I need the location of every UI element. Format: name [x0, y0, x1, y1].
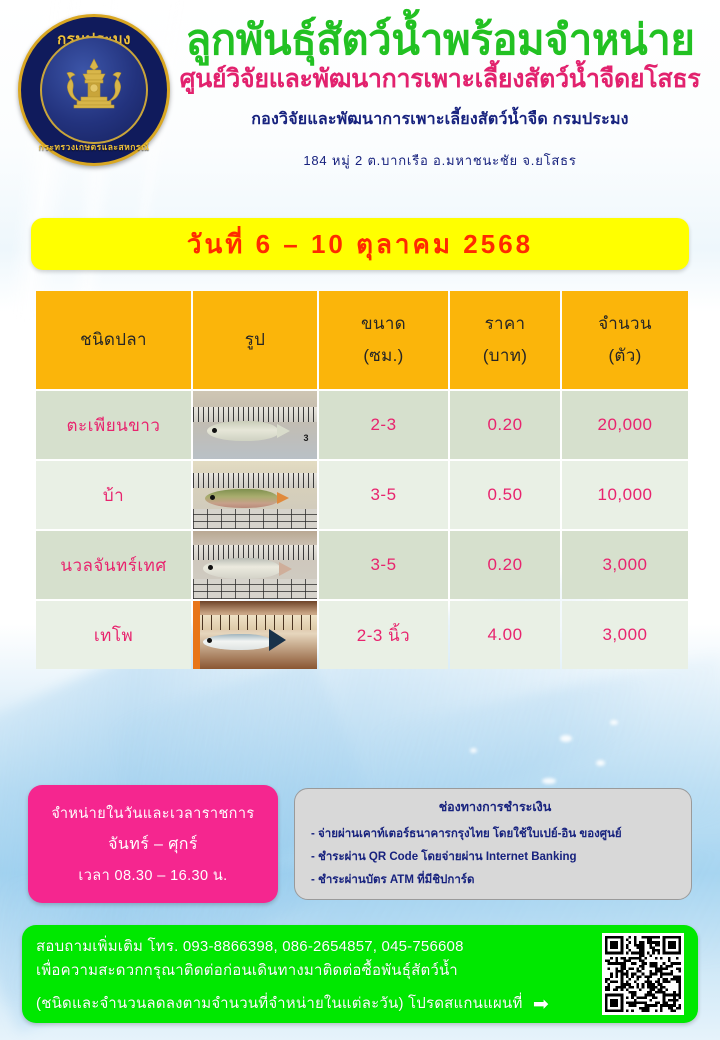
payment-box-title: ช่องทางการชำระเงิน	[311, 797, 679, 817]
cell-fish-quantity: 3,000	[562, 531, 688, 599]
title-block: ลูกพันธุ์สัตว์น้ำพร้อมจำหน่าย ศูนย์วิจัย…	[168, 18, 712, 171]
department-of-fisheries-seal-icon: กรมประมง กระ	[18, 14, 170, 166]
cell-fish-price: 4.00	[450, 601, 560, 669]
header-text-price: ราคา	[485, 314, 526, 333]
poster-title: ลูกพันธุ์สัตว์น้ำพร้อมจำหน่าย	[168, 18, 712, 62]
cell-fish-photo: 3	[193, 391, 317, 459]
poster-department-line: กองวิจัยและพัฒนาการเพาะเลี้ยงสัตว์น้ำจืด…	[168, 107, 712, 132]
cell-fish-size: 3-5	[319, 531, 448, 599]
cell-fish-name: บ้า	[36, 461, 191, 529]
fish-photo-nuan-chan-thet-icon	[193, 531, 317, 599]
cell-fish-price: 0.20	[450, 391, 560, 459]
fish-photo-ba-icon	[193, 461, 317, 529]
cell-fish-photo	[193, 461, 317, 529]
cell-fish-name: นวลจันทร์เทศ	[36, 531, 191, 599]
header-text-photo: รูป	[245, 330, 266, 349]
cell-fish-quantity: 20,000	[562, 391, 688, 459]
seal-bottom-label: กระทรวงเกษตรและสหกรณ์	[21, 140, 167, 154]
hours-line-2: จันทร์ – ศุกร์	[108, 832, 198, 857]
poster-header: กรมประมง กระ	[0, 0, 720, 210]
footer-advice-line: เพื่อความสะดวกกรุณาติดต่อก่อนเดินทางมาติ…	[36, 959, 698, 983]
contact-footer: สอบถามเพิ่มเติม โทร. 093-8866398, 086-26…	[22, 925, 698, 1023]
hours-line-3: เวลา 08.30 – 16.30 น.	[78, 864, 227, 887]
header-text-price-unit: (บาท)	[483, 346, 527, 365]
column-header-size: ขนาด (ซม.)	[319, 291, 448, 389]
cell-fish-quantity: 10,000	[562, 461, 688, 529]
cell-fish-quantity: 3,000	[562, 601, 688, 669]
cell-fish-size: 3-5	[319, 461, 448, 529]
fish-photo-thepo-icon	[193, 601, 317, 669]
poster-root: กรมประมง กระ	[0, 0, 720, 1040]
poster-subtitle-center-name: ศูนย์วิจัยและพัฒนาการเพาะเลี้ยงสัตว์น้ำจ…	[168, 64, 712, 95]
hours-line-1: จำหน่ายในวันและเวลาราชการ	[51, 802, 254, 825]
date-banner: วันที่ 6 – 10 ตุลาคม 2568	[31, 218, 689, 270]
column-header-photo: รูป	[193, 291, 317, 389]
cell-fish-name: เทโพ	[36, 601, 191, 669]
fish-price-table: ชนิดปลา รูป ขนาด (ซม.) ราคา (บาท) จำนวน	[34, 289, 690, 671]
footer-note-text: (ชนิดและจำนวนลดลงตามจำนวนที่จำหน่ายในแต่…	[36, 995, 523, 1012]
table-row: นวลจันทร์เทศ 3-5 0.20 3,000	[36, 531, 688, 599]
header-text-quantity: จำนวน	[598, 314, 652, 333]
cell-fish-photo	[193, 601, 317, 669]
payment-method-item: - ชำระผ่าน QR Code โดยจ่ายผ่าน Internet …	[311, 846, 679, 869]
cell-fish-price: 0.20	[450, 531, 560, 599]
table-header-row: ชนิดปลา รูป ขนาด (ซม.) ราคา (บาท) จำนวน	[36, 291, 688, 389]
right-arrow-icon: ➡	[533, 990, 549, 1021]
cell-fish-size: 2-3	[319, 391, 448, 459]
date-range-text: วันที่ 6 – 10 ตุลาคม 2568	[187, 224, 533, 265]
column-header-quantity: จำนวน (ตัว)	[562, 291, 688, 389]
qr-code-map[interactable]	[602, 933, 684, 1015]
cell-fish-price: 0.50	[450, 461, 560, 529]
cell-fish-photo	[193, 531, 317, 599]
info-boxes-row: จำหน่ายในวันและเวลาราชการ จันทร์ – ศุกร์…	[0, 785, 720, 910]
payment-methods-box: ช่องทางการชำระเงิน - จ่ายผ่านเคาท์เตอร์ธ…	[294, 788, 692, 900]
table-row: บ้า 3-5 0.50 10,000	[36, 461, 688, 529]
price-table-container: ชนิดปลา รูป ขนาด (ซม.) ราคา (บาท) จำนวน	[34, 289, 686, 671]
table-row: ตะเพียนขาว 3 2-3 0.20 20,000	[36, 391, 688, 459]
column-header-price: ราคา (บาท)	[450, 291, 560, 389]
footer-contact-phones: สอบถามเพิ่มเติม โทร. 093-8866398, 086-26…	[36, 935, 698, 959]
business-hours-box: จำหน่ายในวันและเวลาราชการ จันทร์ – ศุกร์…	[28, 785, 278, 903]
column-header-fish-type: ชนิดปลา	[36, 291, 191, 389]
footer-note-line: (ชนิดและจำนวนลดลงตามจำนวนที่จำหน่ายในแต่…	[36, 990, 698, 1021]
fish-photo-tapian-khao-icon: 3	[193, 391, 317, 459]
garuda-pavilion-emblem-icon	[57, 53, 131, 127]
header-text-size-unit: (ซม.)	[363, 346, 403, 365]
table-row: เทโพ 2-3 นิ้ว 4.00 3,000	[36, 601, 688, 669]
poster-address-line: 184 หมู่ 2 ต.บากเรือ อ.มหาชนะชัย จ.ยโสธร	[168, 150, 712, 171]
header-text-size: ขนาด	[361, 314, 406, 333]
header-text-fish-type: ชนิดปลา	[80, 330, 147, 349]
header-text-quantity-unit: (ตัว)	[608, 346, 641, 365]
qr-code-canvas	[605, 936, 681, 1012]
cell-fish-size: 2-3 นิ้ว	[319, 601, 448, 669]
payment-method-item: - ชำระผ่านบัตร ATM ที่มีชิปการ์ด	[311, 869, 679, 892]
payment-method-item: - จ่ายผ่านเคาท์เตอร์ธนาคารกรุงไทย โดยใช้…	[311, 823, 679, 846]
cell-fish-name: ตะเพียนขาว	[36, 391, 191, 459]
